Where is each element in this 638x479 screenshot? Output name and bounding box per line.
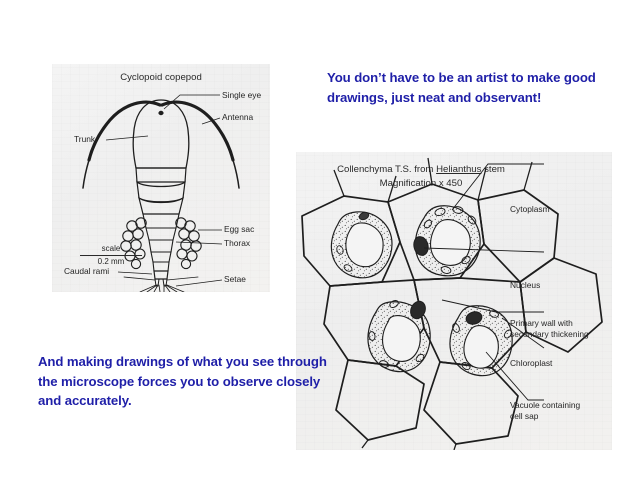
copepod-scale-bar: scale 0.2 mm [80,244,142,267]
collenchyma-label-chloroplast: Chloroplast [510,358,552,369]
slide-text-top-right: You don’t have to be an artist to make g… [327,68,617,107]
copepod-label-single-eye: Single eye [222,90,261,101]
copepod-label-setae: Setae [224,274,246,285]
cell-protoplast-4 [450,306,513,376]
cell-protoplast-2 [412,206,480,276]
scale-value: 0.2 mm [80,257,142,267]
copepod-label-antenna: Antenna [222,112,253,123]
copepod-label-thorax: Thorax [224,238,250,249]
cell-protoplast-3 [368,299,430,372]
cell-protoplast-1 [331,211,392,278]
slide-canvas: Cyclopoid copepod [0,0,638,479]
copepod-label-caudal-rami: Caudal rami [64,266,109,277]
copepod-label-egg-sac: Egg sac [224,224,254,235]
collenchyma-label-primary-wall: Primary wall with secondary thickening [510,318,606,339]
figure-panel-collenchyma: Collenchyma T.S. from Helianthus stem Ma… [296,152,612,450]
slide-text-bottom-left: And making drawings of what you see thro… [38,352,338,411]
copepod-eye-marker [158,111,163,115]
copepod-label-trunk: Trunk [74,134,95,145]
collenchyma-label-cytoplasm: Cytoplasm [510,204,550,215]
collenchyma-label-nucleus: Nucleus [510,280,540,291]
scale-word: scale [80,244,142,254]
scale-rule-line [80,255,142,256]
collenchyma-label-vacuole: Vacuole containing cell sap [510,400,582,421]
figure-panel-copepod: Cyclopoid copepod [52,64,270,292]
